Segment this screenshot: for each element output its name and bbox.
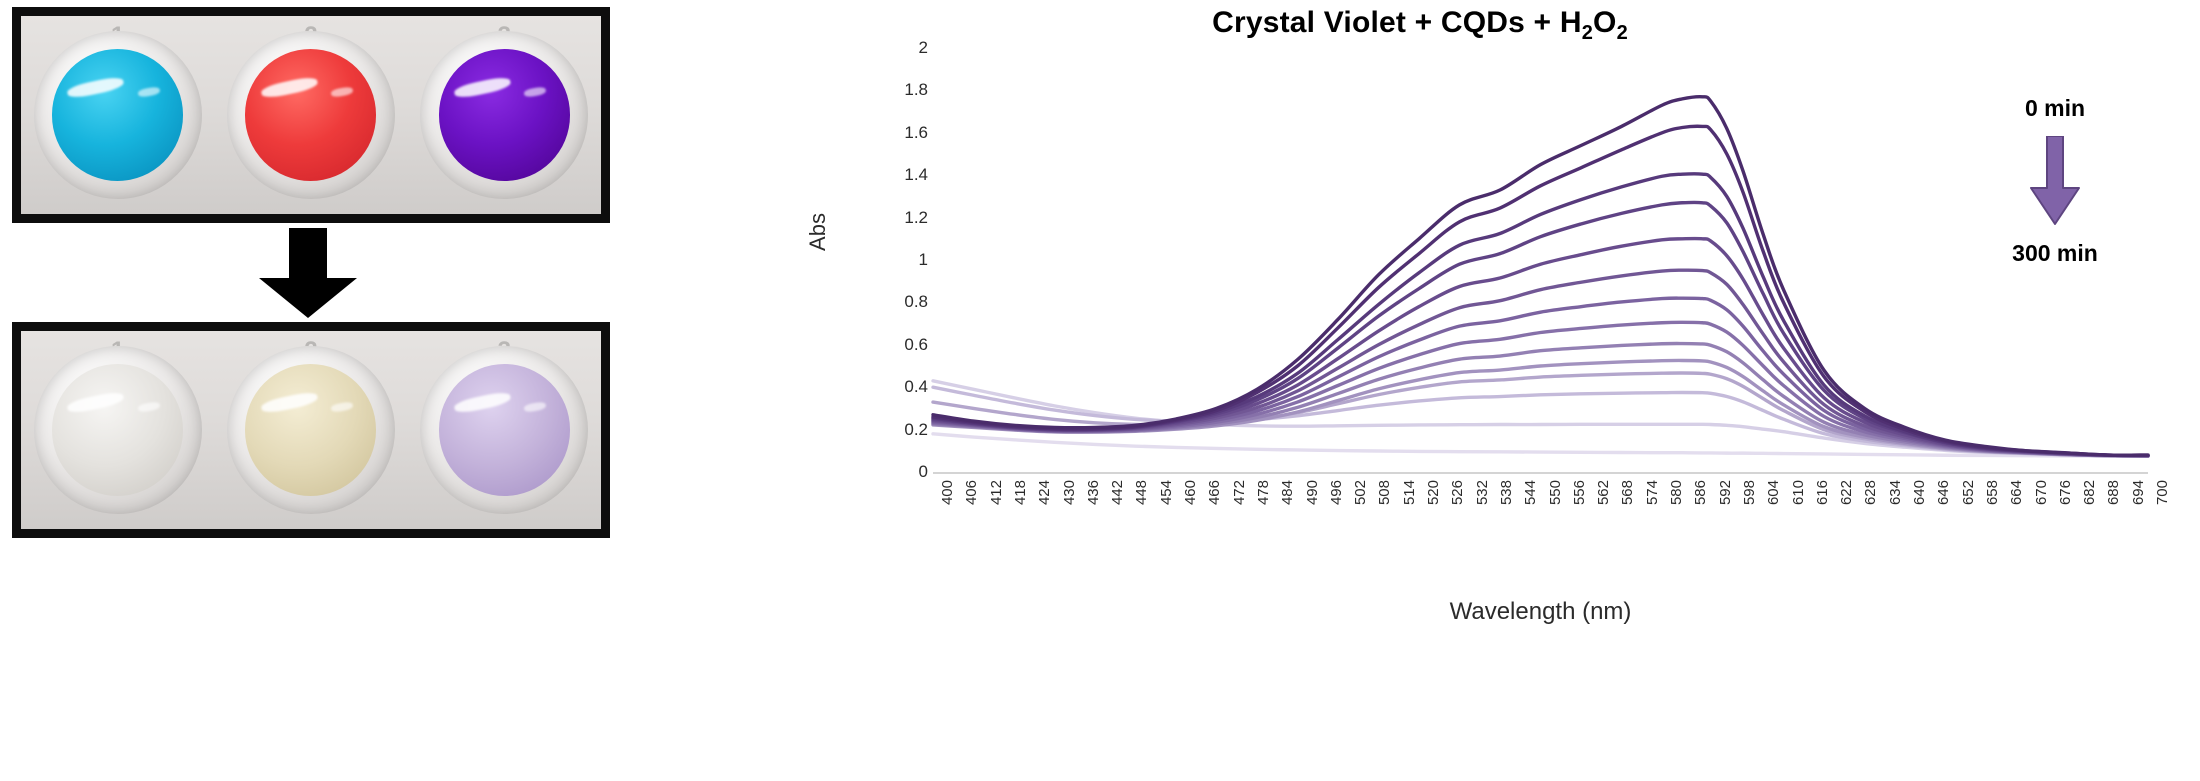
well-plate-after: 1 2 3	[21, 331, 601, 529]
x-axis-tick: 514	[1401, 480, 1418, 505]
well-before-3: 3	[408, 16, 601, 214]
well-rim	[34, 346, 202, 514]
x-axis-tick: 496	[1328, 480, 1345, 505]
x-axis-tick: 484	[1279, 480, 1296, 505]
photo-panel-after: 1 2 3	[12, 322, 610, 538]
well-liquid-red	[245, 49, 376, 180]
x-axis-tick: 700	[2154, 480, 2171, 505]
well-liquid-blue	[52, 49, 183, 180]
chart-title-text-mid: O	[1593, 6, 1617, 39]
x-axis-tick: 460	[1182, 480, 1199, 505]
spectrum-curve	[933, 322, 2148, 456]
x-axis-tick: 532	[1474, 480, 1491, 505]
x-axis-line	[933, 472, 2148, 474]
time-progression-annotation: 0 min 300 min	[1950, 95, 2160, 267]
x-axis-tick: 502	[1352, 480, 1369, 505]
figure-root: 1 2 3	[0, 0, 2200, 781]
spectrum-curve	[933, 360, 2148, 456]
x-axis-tick: 448	[1133, 480, 1150, 505]
x-axis-tick: 556	[1571, 480, 1588, 505]
x-axis-tick: 490	[1304, 480, 1321, 505]
x-axis-tick-labels: 4004064124184244304364424484544604664724…	[933, 480, 2148, 590]
x-axis-tick: 676	[2057, 480, 2074, 505]
x-axis-tick: 628	[1862, 480, 1879, 505]
well-before-2: 2	[214, 16, 407, 214]
x-axis-tick: 694	[2130, 480, 2147, 505]
x-axis-tick: 604	[1765, 480, 1782, 505]
chart-title-subscript-1: 2	[1582, 22, 1593, 44]
well-before-1: 1	[21, 16, 214, 214]
chart-title-subscript-2: 2	[1617, 22, 1628, 44]
well-after-1: 1	[21, 331, 214, 529]
well-liquid-clear	[52, 364, 183, 495]
y-axis-tick: 2	[919, 38, 928, 58]
well-after-3: 3	[408, 331, 601, 529]
x-axis-tick: 526	[1449, 480, 1466, 505]
x-axis-tick: 688	[2105, 480, 2122, 505]
x-axis-tick: 412	[988, 480, 1005, 505]
x-axis-tick: 574	[1644, 480, 1661, 505]
x-axis-tick: 466	[1206, 480, 1223, 505]
well-after-2: 2	[214, 331, 407, 529]
x-axis-tick: 436	[1085, 480, 1102, 505]
x-axis-tick: 562	[1595, 480, 1612, 505]
x-axis-tick: 592	[1717, 480, 1734, 505]
x-axis-tick: 544	[1522, 480, 1539, 505]
x-axis-tick: 664	[2008, 480, 2025, 505]
x-axis-tick: 442	[1109, 480, 1126, 505]
chart-title-text: Crystal Violet + CQDs + H	[1212, 6, 1582, 39]
well-rim	[420, 346, 588, 514]
chart-title: Crystal Violet + CQDs + H2O2	[640, 6, 2200, 45]
x-axis-tick: 550	[1547, 480, 1564, 505]
x-axis-tick: 652	[1960, 480, 1977, 505]
process-arrow-down-icon	[249, 228, 367, 318]
time-end-label: 300 min	[1950, 240, 2160, 267]
x-axis-tick: 424	[1036, 480, 1053, 505]
x-axis-tick: 646	[1935, 480, 1952, 505]
y-axis-tick: 0.8	[904, 292, 928, 312]
x-axis-tick: 520	[1425, 480, 1442, 505]
x-axis-tick: 400	[939, 480, 956, 505]
well-liquid-pale-violet	[439, 364, 570, 495]
x-axis-tick: 670	[2033, 480, 2050, 505]
x-axis-tick: 634	[1887, 480, 1904, 505]
y-axis-tick: 1	[919, 250, 928, 270]
x-axis-tick: 568	[1619, 480, 1636, 505]
x-axis-tick: 472	[1231, 480, 1248, 505]
time-start-label: 0 min	[1950, 95, 2160, 122]
y-axis-tick: 1.4	[904, 165, 928, 185]
y-axis-tick: 0.6	[904, 335, 928, 355]
y-axis-tick: 1.8	[904, 80, 928, 100]
x-axis-tick: 406	[963, 480, 980, 505]
well-rim	[34, 31, 202, 199]
x-axis-tick: 454	[1158, 480, 1175, 505]
x-axis-tick: 430	[1061, 480, 1078, 505]
y-axis-tick: 0	[919, 462, 928, 482]
time-arrow-down-icon	[2027, 136, 2083, 228]
x-axis-tick: 508	[1376, 480, 1393, 505]
y-axis-tick: 1.6	[904, 123, 928, 143]
y-axis-tick: 0.2	[904, 420, 928, 440]
y-axis-tick: 0.4	[904, 377, 928, 397]
x-axis-tick: 586	[1692, 480, 1709, 505]
x-axis-tick: 598	[1741, 480, 1758, 505]
x-axis-tick: 478	[1255, 480, 1272, 505]
photo-panel-before: 1 2 3	[12, 7, 610, 223]
spectrum-curve	[933, 343, 2148, 455]
x-axis-tick: 682	[2081, 480, 2098, 505]
x-axis-tick: 622	[1838, 480, 1855, 505]
x-axis-tick: 538	[1498, 480, 1515, 505]
well-rim	[227, 346, 395, 514]
well-liquid-violet	[439, 49, 570, 180]
y-axis-tick-labels: 00.20.40.60.811.21.41.61.82	[876, 48, 928, 472]
x-axis-tick: 640	[1911, 480, 1928, 505]
x-axis-tick: 616	[1814, 480, 1831, 505]
x-axis-title: Wavelength (nm)	[933, 598, 2148, 626]
well-rim	[227, 31, 395, 199]
well-liquid-pale-yellow	[245, 364, 376, 495]
x-axis-tick: 580	[1668, 480, 1685, 505]
well-rim	[420, 31, 588, 199]
x-axis-tick: 658	[1984, 480, 2001, 505]
well-plate-before: 1 2 3	[21, 16, 601, 214]
x-axis-tick: 418	[1012, 480, 1029, 505]
x-axis-tick: 610	[1790, 480, 1807, 505]
y-axis-title: Abs	[805, 213, 831, 251]
y-axis-tick: 1.2	[904, 208, 928, 228]
absorbance-spectra-chart: Crystal Violet + CQDs + H2O2 Abs 00.20.4…	[640, 0, 2200, 781]
